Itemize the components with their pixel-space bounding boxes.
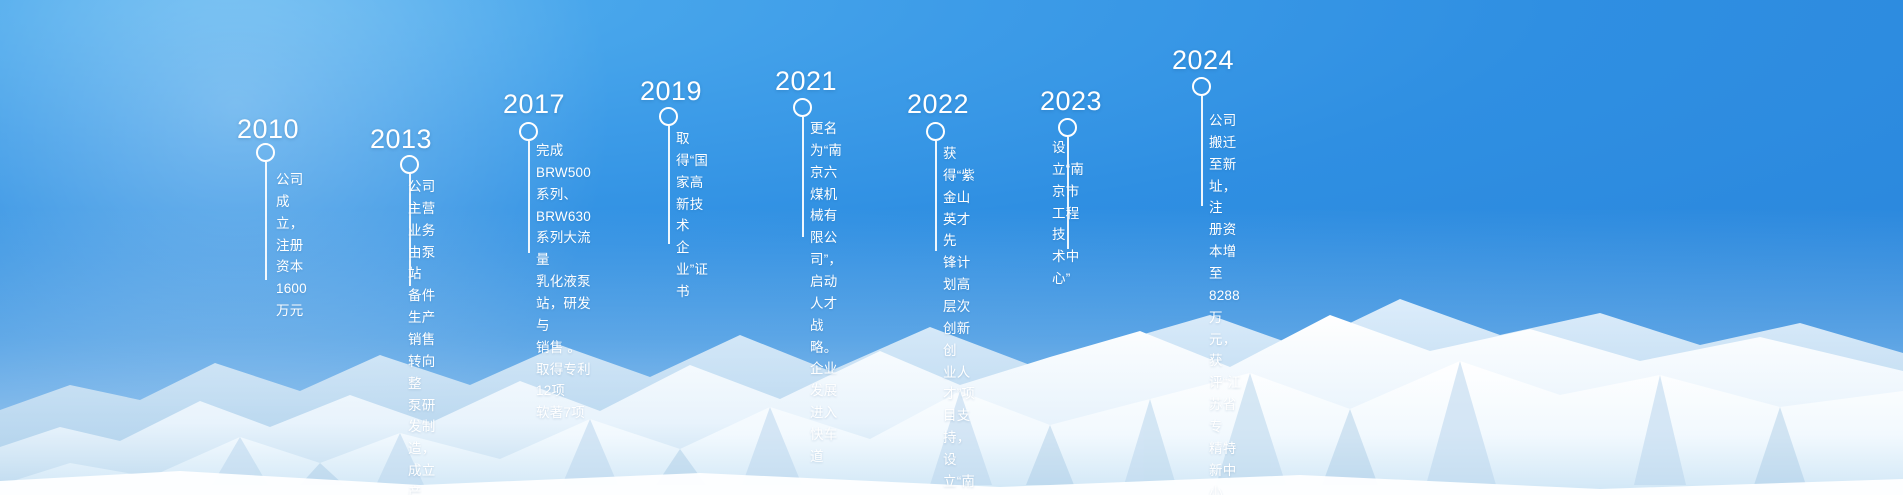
event-connector-line [265,162,267,280]
event-description: 设立“南京市工程技 术中心” [1052,137,1084,290]
event-year-label: 2021 [775,68,837,95]
event-year-label: 2010 [237,116,299,143]
event-marker-dot[interactable] [256,143,275,162]
event-year-label: 2024 [1172,47,1234,74]
event-marker-dot[interactable] [793,98,812,117]
event-connector-line [528,141,530,253]
event-description: 获得“紫金山英才先 锋计划高层次创新创 业人才”项目支持， 设立“南京市企业专 … [943,143,975,495]
event-marker-dot[interactable] [400,155,419,174]
event-description: 公司成立，注册资本 1600万元 [276,169,307,322]
event-connector-line [1201,96,1203,206]
event-connector-line [935,141,937,251]
event-year-label: 2019 [640,78,702,105]
event-marker-dot[interactable] [1192,77,1211,96]
event-description: 公司主营业务由泵站 备件生产销售转向整 泵研发制造，成立产 品研发中心.公司注册… [408,176,439,495]
event-connector-line [668,126,670,244]
event-description: 更名为“南京六煤机 械有限公司”，启动 人才战略。企业发展 进入快车道 [810,118,842,468]
timeline-track: 2010公司成立，注册资本 1600万元2013公司主营业务由泵站 备件生产销售… [0,0,1903,495]
event-year-label: 2022 [907,91,969,118]
timeline-infographic: 2010公司成立，注册资本 1600万元2013公司主营业务由泵站 备件生产销售… [0,0,1903,495]
event-year-label: 2023 [1040,88,1102,115]
event-description: 公司搬迁至新址，注 册资本增至8288万 元，获评“江苏省专 精特新中小 企业” [1209,110,1241,495]
event-marker-dot[interactable] [926,122,945,141]
event-year-label: 2013 [370,126,432,153]
event-description: 取得“国家高新技术 企业”证书 [676,128,708,303]
event-marker-dot[interactable] [519,122,538,141]
event-description: 完成BRW500系列、 BRW630系列大流量 乳化液泵站，研发与 销售 。取得… [536,140,591,424]
event-marker-dot[interactable] [1058,118,1077,137]
event-marker-dot[interactable] [659,107,678,126]
event-year-label: 2017 [503,91,565,118]
event-connector-line [802,117,804,237]
